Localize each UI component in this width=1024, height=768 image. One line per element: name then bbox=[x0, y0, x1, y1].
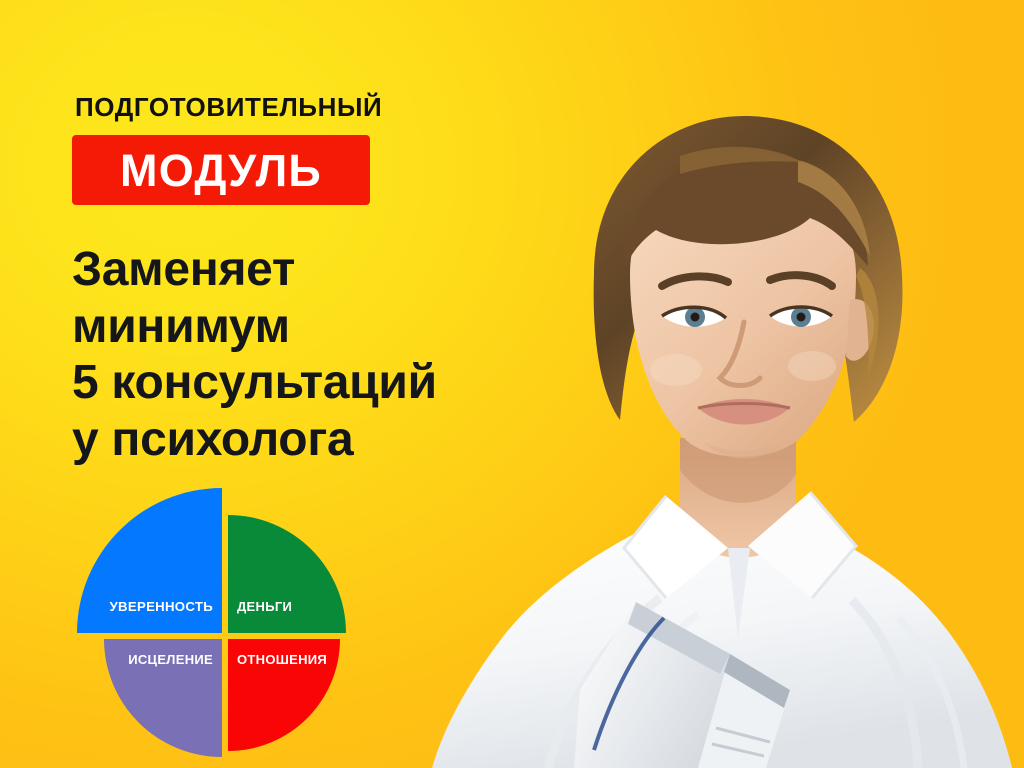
portrait-photo bbox=[398, 78, 1024, 768]
module-badge: МОДУЛЬ bbox=[72, 135, 370, 205]
quadrant-wheel: УВЕРЕННОСТЬ ДЕНЬГИ ИСЦЕЛЕНИЕ ОТНОШЕНИЯ bbox=[55, 470, 375, 768]
portrait-head bbox=[594, 116, 903, 459]
wheel-label-healing: ИСЦЕЛЕНИЕ bbox=[128, 652, 213, 667]
wheel-label-confidence: УВЕРЕННОСТЬ bbox=[110, 599, 214, 614]
wheel-label-relationships: ОТНОШЕНИЯ bbox=[237, 652, 327, 667]
module-badge-label: МОДУЛЬ bbox=[120, 148, 322, 193]
wheel-quadrant-money[interactable] bbox=[228, 515, 346, 633]
poster-canvas: ПОДГОТОВИТЕЛЬНЫЙ МОДУЛЬ Заменяет минимум… bbox=[0, 0, 1024, 768]
kicker-text: ПОДГОТОВИТЕЛЬНЫЙ bbox=[75, 92, 382, 123]
wheel-label-money: ДЕНЬГИ bbox=[237, 599, 292, 614]
